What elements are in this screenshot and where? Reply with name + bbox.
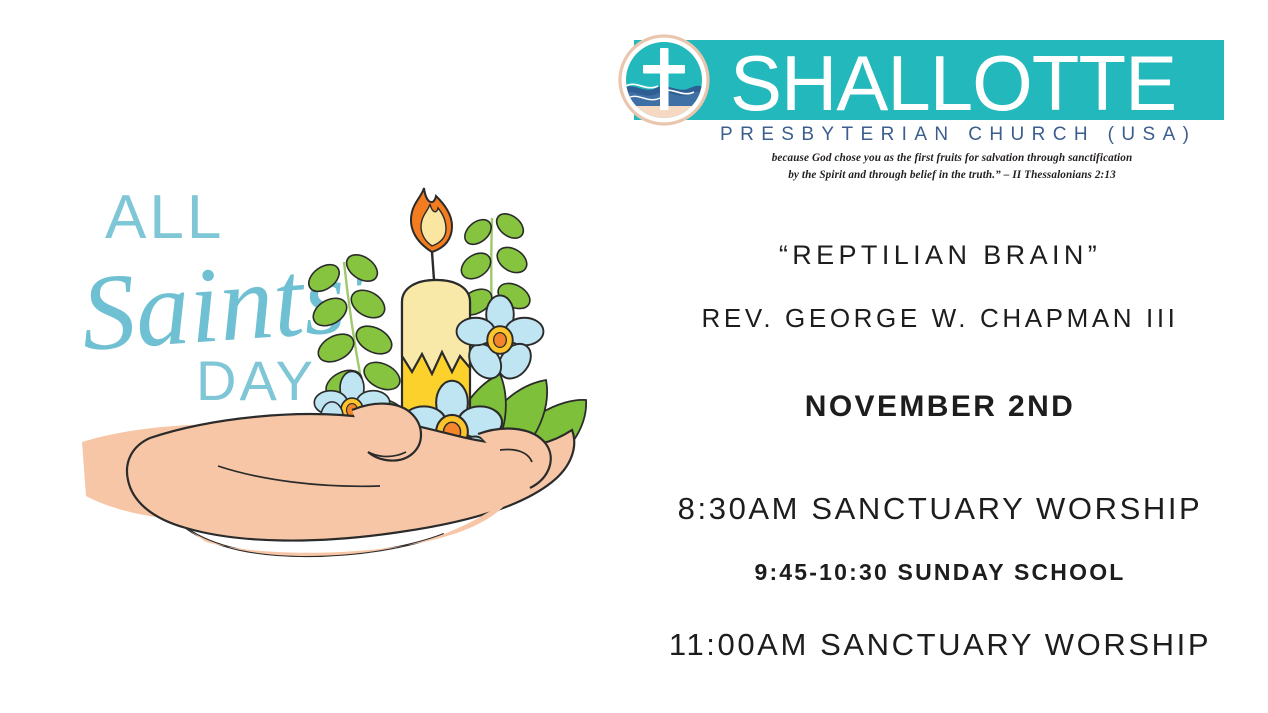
all-saints-day-artwork: ALL Saints' DAY [0, 0, 612, 713]
all-saints-day-illustration: ALL Saints' DAY [0, 0, 612, 713]
candle-wick [432, 252, 434, 280]
service-time-sunday-school: 9:45-10:30 SUNDAY SCHOOL [612, 559, 1268, 586]
service-date: NOVEMBER 2ND [612, 390, 1268, 424]
preacher-name: REV. GEORGE W. CHAPMAN III [612, 303, 1268, 334]
service-time-second: 11:00AM SANCTUARY WORSHIP [612, 627, 1268, 663]
announcement-content-panel: SHALLOTTE PRESBYTERIAN CHURCH (USA) [612, 0, 1268, 713]
sermon-title: “REPTILIAN BRAIN” [612, 240, 1268, 271]
service-time-first: 8:30AM SANCTUARY WORSHIP [612, 491, 1268, 527]
headline-all: ALL [105, 183, 224, 252]
headline-day: DAY [196, 349, 316, 412]
service-details: “REPTILIAN BRAIN” REV. GEORGE W. CHAPMAN… [612, 0, 1268, 713]
worship-announcement-slide: ALL Saints' DAY [0, 0, 1268, 713]
headline-group: ALL Saints' DAY [77, 183, 374, 412]
